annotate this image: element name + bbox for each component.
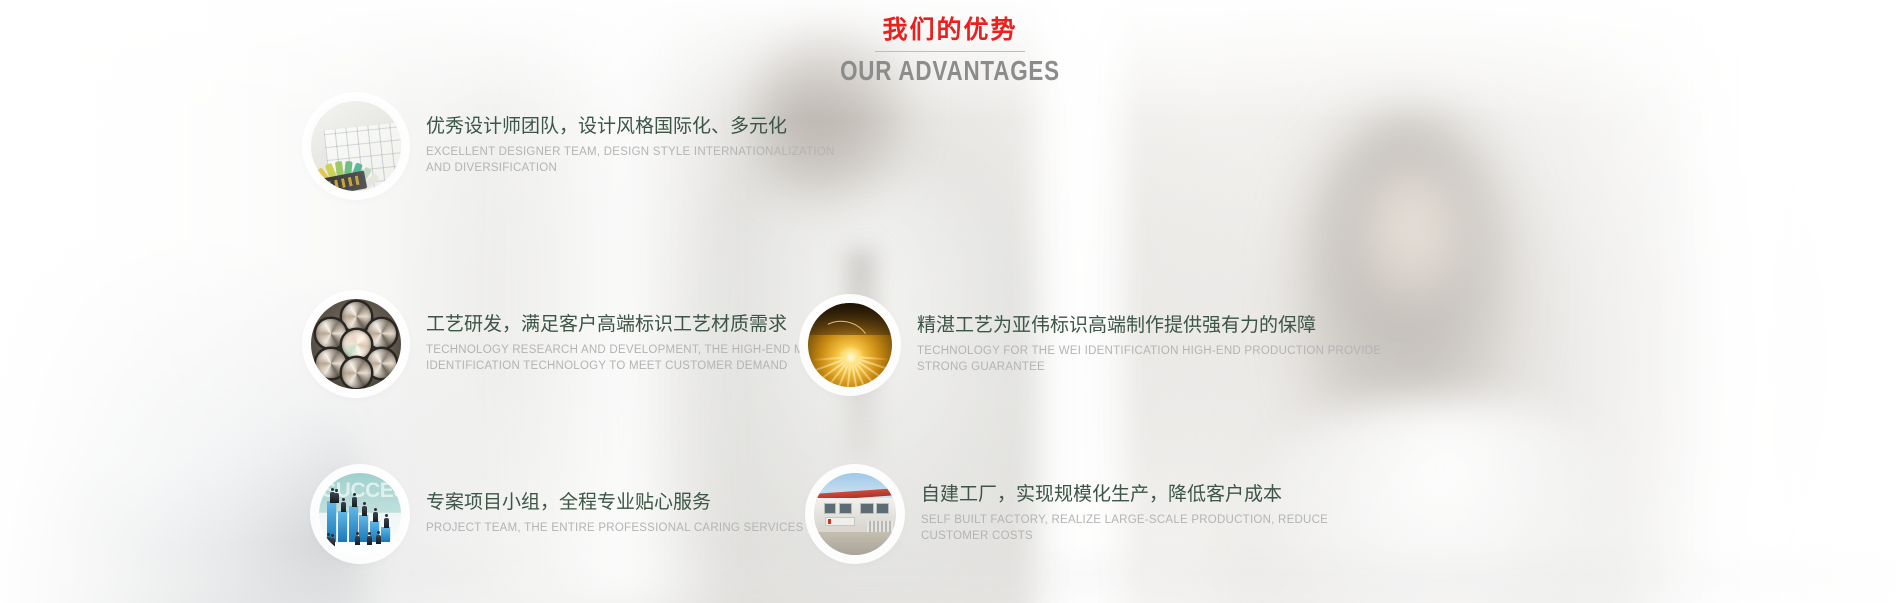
feature-thumbnail-craftsmanship — [805, 300, 895, 390]
section-header: 我们的优势 OUR ADVANTAGES — [0, 16, 1900, 87]
factory-building-icon — [814, 473, 896, 555]
feature-thumbnail-project-team: SUCCESS — [316, 470, 404, 558]
title-divider — [875, 51, 1025, 52]
feature-thumbnail-technology-rnd — [308, 296, 404, 392]
success-bar-chart-icon: SUCCESS — [319, 473, 401, 555]
section-title-en: OUR ADVANTAGES — [190, 56, 1710, 87]
feature-item-craftsmanship-guarantee[interactable]: 精湛工艺为亚伟标识高端制作提供强有力的保障 TECHNOLOGY FOR THE… — [805, 300, 1387, 390]
feature-subtext: SELF BUILT FACTORY, REALIZE LARGE-SCALE … — [921, 513, 1371, 545]
section-title-cn: 我们的优势 — [0, 16, 1900, 44]
feature-subtext: EXCELLENT DESIGNER TEAM, DESIGN STYLE IN… — [426, 145, 856, 177]
feature-text-project-team: 专案项目小组，全程专业贴心服务 PROJECT TEAM, THE ENTIRE… — [426, 491, 804, 537]
feature-item-project-team[interactable]: SUCCESS — [316, 470, 804, 558]
feature-thumbnail-designer-team — [308, 98, 404, 194]
feature-subtext: TECHNOLOGY FOR THE WEI IDENTIFICATION HI… — [917, 344, 1387, 376]
feature-heading: 专案项目小组，全程专业贴心服务 — [426, 491, 804, 515]
feature-item-designer-team[interactable]: 优秀设计师团队，设计风格国际化、多元化 EXCELLENT DESIGNER T… — [308, 98, 856, 194]
feature-thumbnail-factory — [811, 470, 899, 558]
welding-sparks-icon — [808, 303, 892, 387]
feature-item-self-built-factory[interactable]: 自建工厂，实现规模化生产，降低客户成本 SELF BUILT FACTORY, … — [811, 470, 1371, 558]
feature-subtext: PROJECT TEAM, THE ENTIRE PROFESSIONAL CA… — [426, 521, 804, 537]
metal-tubes-icon — [311, 299, 401, 389]
color-swatch-blueprint-icon — [311, 101, 401, 191]
feature-heading: 优秀设计师团队，设计风格国际化、多元化 — [426, 115, 856, 139]
feature-text-designer-team: 优秀设计师团队，设计风格国际化、多元化 EXCELLENT DESIGNER T… — [426, 115, 856, 176]
feature-heading: 精湛工艺为亚伟标识高端制作提供强有力的保障 — [917, 314, 1387, 338]
feature-heading: 自建工厂，实现规模化生产，降低客户成本 — [921, 483, 1371, 507]
feature-text-factory: 自建工厂，实现规模化生产，降低客户成本 SELF BUILT FACTORY, … — [921, 483, 1371, 544]
feature-text-craftsmanship: 精湛工艺为亚伟标识高端制作提供强有力的保障 TECHNOLOGY FOR THE… — [917, 314, 1387, 375]
advantages-section: 我们的优势 OUR ADVANTAGES — [0, 0, 1900, 603]
